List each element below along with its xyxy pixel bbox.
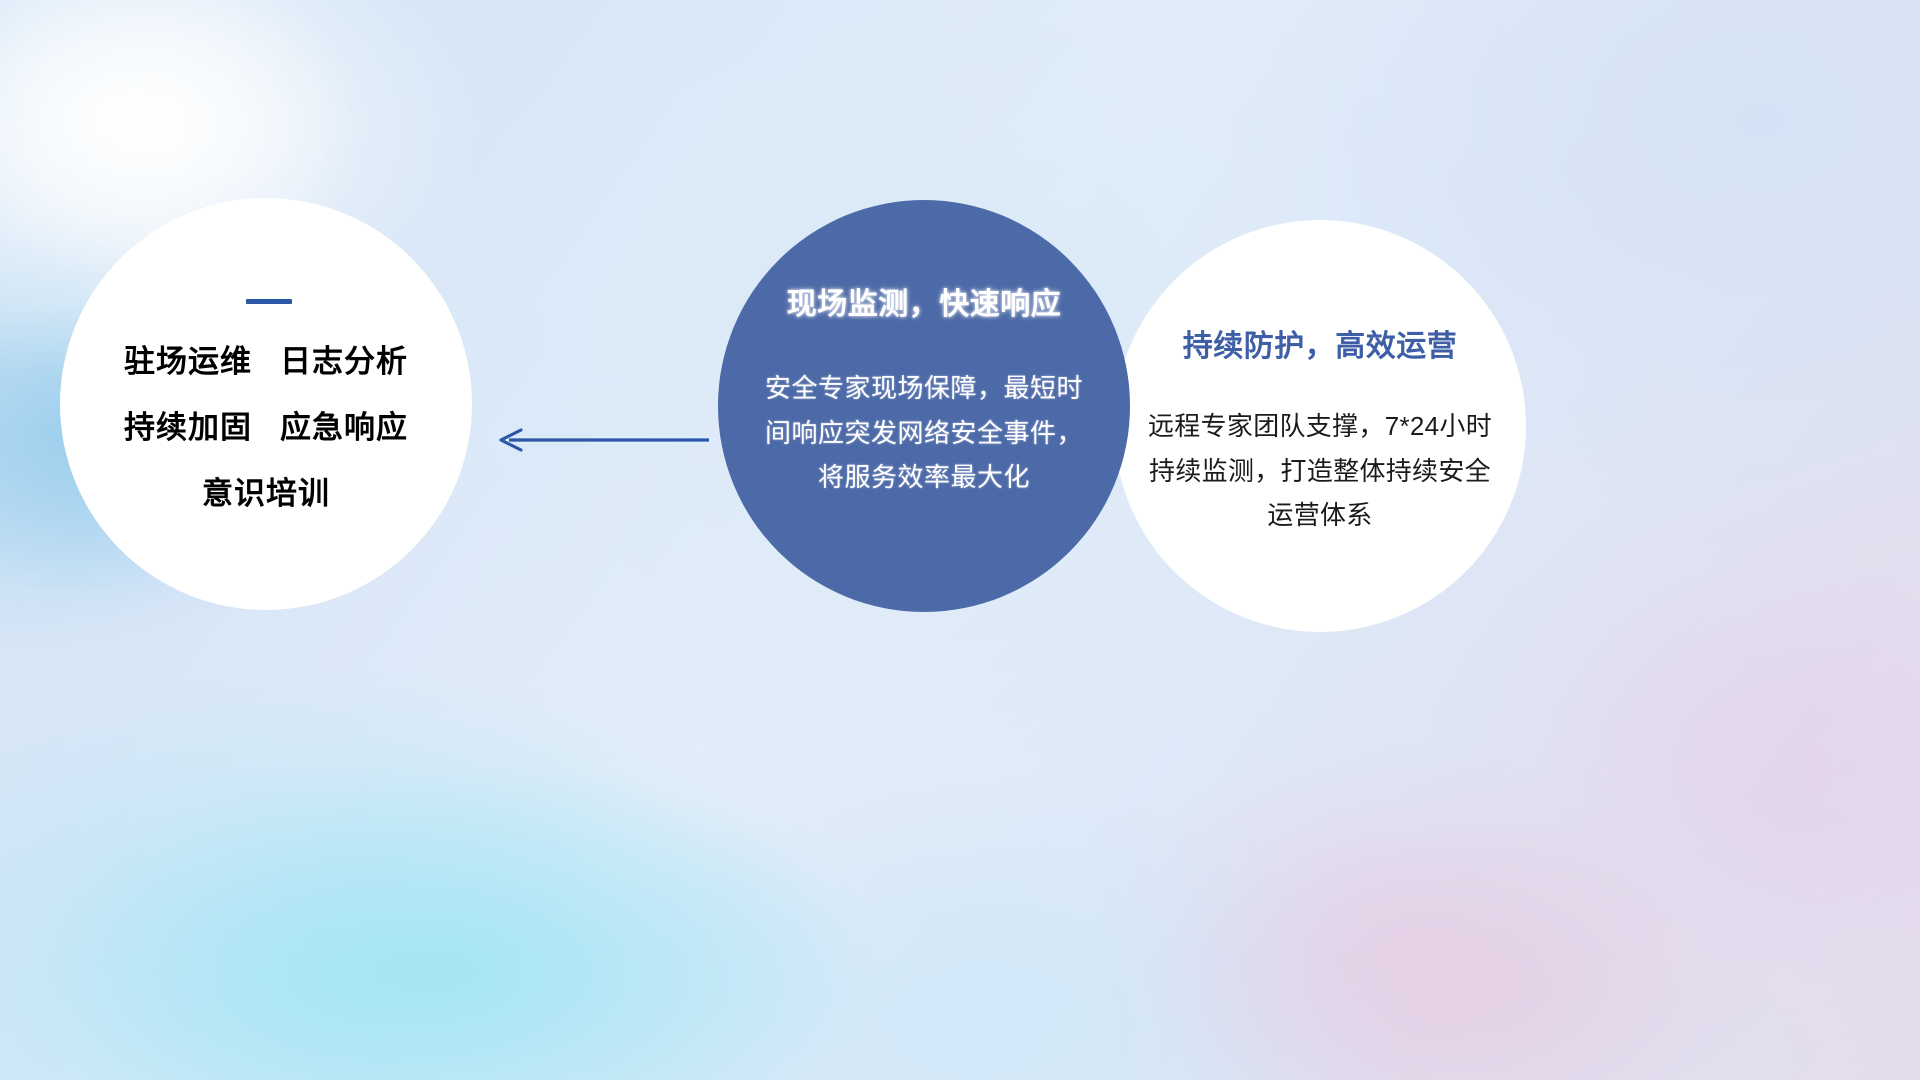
capability-circle-middle-content: 现场监测，快速响应 安全专家现场保障，最短时间响应突发网络安全事件，将服务效率最… [718,200,1130,612]
middle-card-title: 现场监测，快速响应 [787,290,1062,320]
capability-row-1: 驻场运维 日志分析 [124,346,408,377]
capability-circle-left[interactable]: 驻场运维 日志分析 持续加固 应急响应 意识培训 [60,198,472,610]
slide-canvas: 驻场运维 日志分析 持续加固 应急响应 意识培训 持续防护，高效运营 远程专家团… [0,0,1920,1080]
capability-label-onsite-ops: 驻场运维 [124,346,252,377]
capability-circle-right-content: 持续防护，高效运营 远程专家团队支撑，7*24小时持续监测，打造整体持续安全运营… [1114,220,1526,632]
background-glow-bottom-right [1150,820,1770,1080]
capability-circle-left-content: 驻场运维 日志分析 持续加固 应急响应 意识培训 [60,198,472,610]
right-card-body: 远程专家团队支撑，7*24小时持续监测，打造整体持续安全运营体系 [1145,404,1495,538]
background-glow-right [1540,560,1920,980]
capability-circle-right[interactable]: 持续防护，高效运营 远程专家团队支撑，7*24小时持续监测，打造整体持续安全运营… [1114,220,1526,632]
capability-label-log-analysis: 日志分析 [280,346,408,377]
middle-card-body: 安全专家现场保障，最短时间响应突发网络安全事件，将服务效率最大化 [754,366,1094,500]
capability-label-emergency-response: 应急响应 [280,412,408,443]
divider-dash [246,299,292,304]
capability-label-continuous-hardening: 持续加固 [124,412,252,443]
capability-row-3: 意识培训 [202,478,330,509]
right-card-title: 持续防护，高效运营 [1183,332,1458,362]
capability-row-2: 持续加固 应急响应 [124,412,408,443]
background-glow-bottom-left [40,760,860,1080]
capability-circle-middle[interactable]: 现场监测，快速响应 安全专家现场保障，最短时间响应突发网络安全事件，将服务效率最… [718,200,1130,612]
capability-label-awareness-training: 意识培训 [202,478,330,509]
arrow-left-icon [495,425,710,455]
